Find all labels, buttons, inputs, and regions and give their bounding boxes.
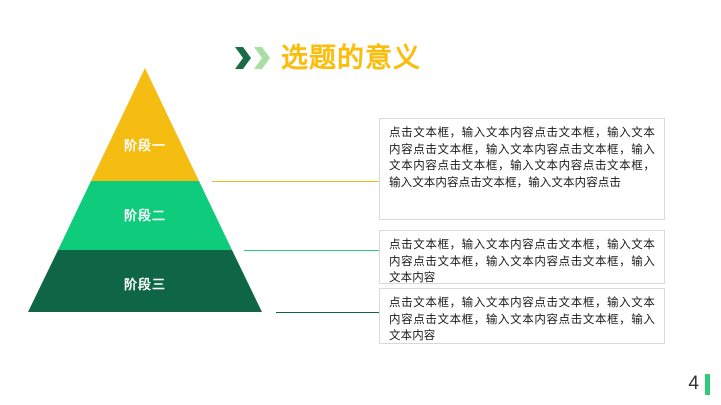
page-number: 4: [688, 373, 699, 395]
pyramid-level-3-label: 阶段三: [85, 274, 205, 293]
page-accent-bar: [705, 374, 710, 395]
slide-canvas: 选题的意义 阶段一 阶段二 阶段三 点击文本框，输入文本内容点击文本框，输入文本…: [0, 0, 721, 405]
textbox-stage-2[interactable]: 点击文本框，输入文本内容点击文本框，输入文本内容点击文本框，输入文本内容点击文本…: [379, 230, 665, 284]
pyramid-level-1-shape[interactable]: [91, 68, 199, 181]
connector-stage-3: [276, 312, 384, 313]
connector-stage-2: [244, 250, 384, 251]
pyramid-level-1-label: 阶段一: [85, 135, 205, 154]
page-title: 选题的意义: [281, 43, 421, 73]
slide-footer: 4: [688, 371, 710, 397]
pyramid-level-2-label: 阶段二: [85, 205, 205, 224]
textbox-stage-1[interactable]: 点击文本框，输入文本内容点击文本框，输入文本内容点击文本框，输入文本内容点击文本…: [379, 118, 665, 220]
connector-stage-1: [212, 181, 384, 182]
pyramid-diagram: 阶段一 阶段二 阶段三: [0, 55, 300, 330]
textbox-stage-3[interactable]: 点击文本框，输入文本内容点击文本框，输入文本内容点击文本框，输入文本内容点击文本…: [379, 288, 665, 344]
